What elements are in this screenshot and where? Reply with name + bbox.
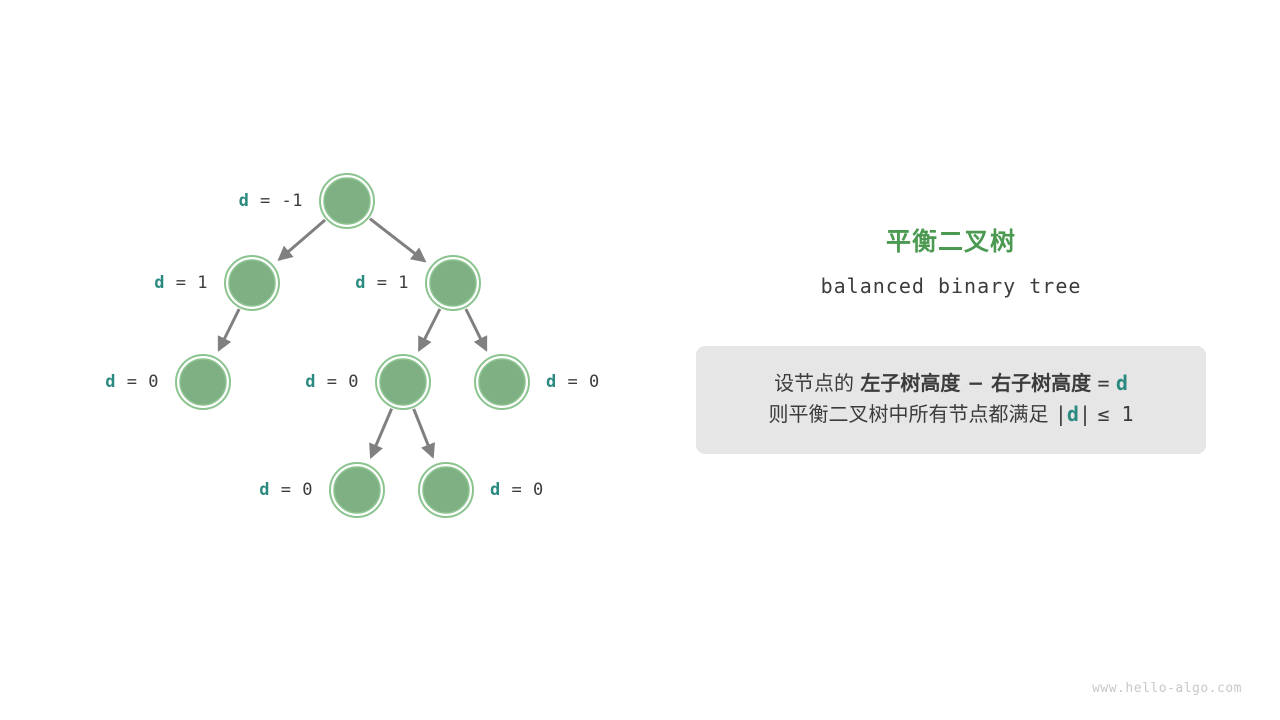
balance-variable: d (154, 273, 165, 293)
tree-node-circle (430, 260, 476, 306)
node-balance-label: d = 0 (259, 480, 313, 500)
tree-node[interactable] (330, 463, 384, 517)
balance-value: = 0 (270, 480, 313, 500)
tree-node[interactable] (426, 256, 480, 310)
tree-node-circle (334, 467, 380, 513)
tree-edge (370, 219, 425, 261)
definition-line-1-prefix: 设节点的 (774, 371, 854, 395)
node-balance-label: d = 1 (355, 273, 409, 293)
tree-nodes (176, 174, 529, 517)
definition-line-2-variable: d (1067, 402, 1079, 426)
tree-edges (219, 219, 486, 457)
tree-node[interactable] (376, 355, 430, 409)
definition-line-1: 设节点的 左子树高度 − 右子树高度 = d (696, 368, 1206, 399)
definition-line-2: 则平衡二叉树中所有节点都满足 |d| ≤ 1 (696, 399, 1206, 430)
balance-value: = 0 (501, 480, 544, 500)
node-balance-label: d = 0 (490, 480, 544, 500)
balance-value: = 0 (557, 372, 600, 392)
balance-variable: d (546, 372, 557, 392)
tree-node-circle (180, 359, 226, 405)
balance-variable: d (305, 372, 316, 392)
balance-value: = 0 (316, 372, 359, 392)
tree-node[interactable] (225, 256, 279, 310)
balance-variable: d (105, 372, 116, 392)
tree-node-circle (423, 467, 469, 513)
balance-value: = -1 (249, 191, 303, 211)
tree-node-circle (479, 359, 525, 405)
definition-line-1-equals: = (1097, 371, 1109, 395)
node-balance-label: d = -1 (239, 191, 303, 211)
abs-bar-close: | (1079, 402, 1091, 426)
balance-value: = 1 (366, 273, 409, 293)
tree-node-circle (229, 260, 275, 306)
balance-variable: d (259, 480, 270, 500)
tree-node[interactable] (176, 355, 230, 409)
balance-value: = 1 (165, 273, 208, 293)
diagram-canvas: d = -1d = 1d = 1d = 0d = 0d = 0d = 0d = … (0, 0, 1280, 720)
page-title: 平衡二叉树 (696, 222, 1206, 258)
node-balance-label: d = 0 (105, 372, 159, 392)
tree-node-circle (380, 359, 426, 405)
tree-node[interactable] (320, 174, 374, 228)
info-panel: 平衡二叉树 balanced binary tree 设节点的 左子树高度 − … (696, 222, 1206, 454)
tree-edge (414, 409, 433, 457)
node-balance-label: d = 0 (305, 372, 359, 392)
tree-edge (466, 309, 486, 350)
tree-node[interactable] (475, 355, 529, 409)
definition-box: 设节点的 左子树高度 − 右子树高度 = d 则平衡二叉树中所有节点都满足 |d… (696, 346, 1206, 454)
tree-node-circle (324, 178, 370, 224)
definition-line-2-condition: ≤ 1 (1097, 402, 1133, 426)
node-balance-label: d = 1 (154, 273, 208, 293)
node-balance-label: d = 0 (546, 372, 600, 392)
page-subtitle: balanced binary tree (696, 274, 1206, 298)
balance-variable: d (490, 480, 501, 500)
abs-bar-open: | (1055, 402, 1067, 426)
tree-node[interactable] (419, 463, 473, 517)
balance-variable: d (355, 273, 366, 293)
tree-edge (419, 309, 440, 350)
watermark: www.hello-algo.com (1092, 681, 1242, 696)
balance-value: = 0 (116, 372, 159, 392)
definition-line-2-prefix: 则平衡二叉树中所有节点都满足 (769, 402, 1049, 426)
balance-variable: d (239, 191, 250, 211)
tree-edge (371, 409, 392, 457)
tree-edge (219, 309, 239, 350)
definition-line-1-variable: d (1116, 371, 1128, 395)
tree-edge (279, 220, 325, 260)
definition-line-1-formula: 左子树高度 − 右子树高度 (860, 371, 1091, 395)
